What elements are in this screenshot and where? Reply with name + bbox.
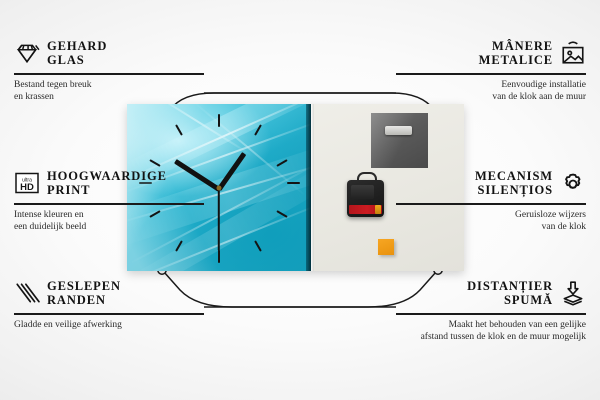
feature-title-line2: METALICE bbox=[479, 53, 553, 67]
feature-title: GESLEPEN bbox=[47, 279, 121, 293]
svg-text:HD: HD bbox=[20, 182, 34, 193]
feature-title-line2: PRINT bbox=[47, 183, 167, 197]
divider bbox=[396, 313, 586, 315]
gear-icon bbox=[560, 170, 586, 196]
beveled-edges-icon bbox=[14, 280, 40, 306]
diamond-icon bbox=[14, 40, 40, 66]
second-hand bbox=[218, 189, 220, 251]
divider bbox=[396, 203, 586, 205]
feature-title-line2: SILENȚIOS bbox=[475, 183, 553, 197]
feature-description-line2: van de klok bbox=[386, 221, 586, 233]
feature-description: Intense kleuren en bbox=[14, 209, 214, 221]
feature-title: GEHARD bbox=[47, 39, 107, 53]
feature-title-line2: SPUMĂ bbox=[467, 293, 553, 307]
feature-description: Bestand tegen breuk bbox=[14, 79, 214, 91]
feature-description-line2: een duidelijk beeld bbox=[14, 221, 214, 233]
feature-geslepen-randen: GESLEPEN RANDEN Gladde en veilige afwerk… bbox=[14, 276, 214, 331]
divider bbox=[14, 313, 204, 315]
metal-hanger-icon bbox=[385, 126, 412, 135]
feature-distantier-spuma: DISTANȚIER SPUMĂ Maakt het behouden van … bbox=[386, 276, 586, 343]
metal-inset bbox=[371, 113, 428, 168]
feature-title: HOOGWAARDIGE bbox=[47, 169, 167, 183]
feature-title: DISTANȚIER bbox=[467, 279, 553, 293]
foam-spacer bbox=[378, 239, 394, 255]
panel-divider bbox=[311, 104, 314, 271]
divider bbox=[14, 73, 204, 75]
divider bbox=[396, 73, 586, 75]
feature-mecanism-silentios: MECANISM SILENȚIOS Geruisloze wijzers va… bbox=[386, 166, 586, 233]
feature-description: Eenvoudige installatie bbox=[386, 79, 586, 91]
feature-description: Geruisloze wijzers bbox=[386, 209, 586, 221]
clock-hub bbox=[217, 185, 222, 190]
divider bbox=[14, 203, 204, 205]
feature-gehard-glas: GEHARD GLAS Bestand tegen breuk en krass… bbox=[14, 36, 214, 103]
infographic-stage: GEHARD GLAS Bestand tegen breuk en krass… bbox=[0, 0, 600, 400]
mechanism-face bbox=[351, 185, 374, 199]
spacer-layers-icon bbox=[560, 280, 586, 306]
feature-hoogwaardige-print: ultra HD HOOGWAARDIGE PRINT Intense kleu… bbox=[14, 166, 214, 233]
feature-description-line2: en krassen bbox=[14, 91, 214, 103]
feature-title: MÂNERE bbox=[479, 39, 553, 53]
feature-title: MECANISM bbox=[475, 169, 553, 183]
feature-description: Maakt het behouden van een gelijke bbox=[386, 319, 586, 331]
feature-manere-metalice: MÂNERE METALICE Eenvoudige installatie v… bbox=[386, 36, 586, 103]
battery-indicator bbox=[375, 205, 381, 214]
ultra-hd-icon: ultra HD bbox=[14, 170, 40, 196]
feature-title-line2: GLAS bbox=[47, 53, 107, 67]
feature-title-line2: RANDEN bbox=[47, 293, 121, 307]
wall-hanging-icon bbox=[560, 40, 586, 66]
clock-mechanism bbox=[347, 180, 384, 217]
feature-description-line2: afstand tussen de klok en de muur mogeli… bbox=[386, 331, 586, 343]
feature-description-line2: van de klok aan de muur bbox=[386, 91, 586, 103]
feature-description: Gladde en veilige afwerking bbox=[14, 319, 214, 331]
